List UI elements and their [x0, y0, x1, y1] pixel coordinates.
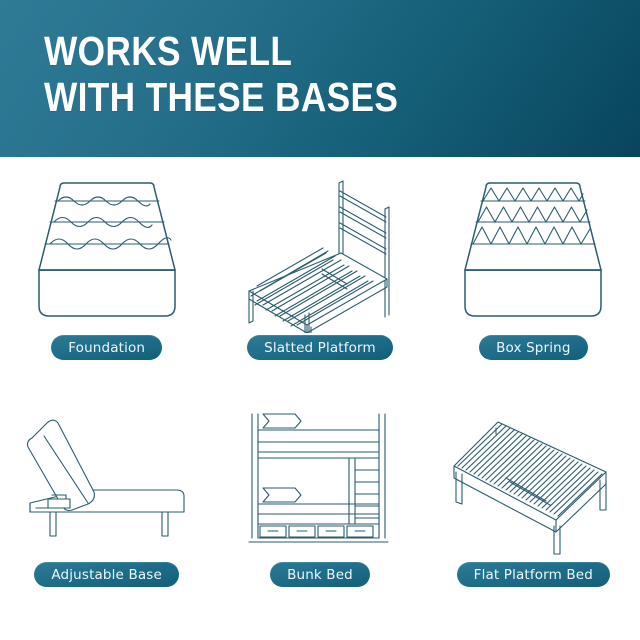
base-card-flat-platform-bed[interactable]: Flat Platform Bed — [427, 400, 640, 635]
base-label-foundation[interactable]: Foundation — [51, 335, 162, 360]
box-spring-icon — [440, 165, 626, 333]
base-label-box-spring[interactable]: Box Spring — [479, 335, 587, 360]
base-label-slatted-platform[interactable]: Slatted Platform — [247, 335, 393, 360]
base-label-flat-platform-bed[interactable]: Flat Platform Bed — [457, 562, 610, 587]
base-card-box-spring[interactable]: Box Spring — [427, 165, 640, 400]
base-card-slatted-platform[interactable]: Slatted Platform — [213, 165, 426, 400]
base-card-bunk-bed[interactable]: Bunk Bed — [213, 400, 426, 635]
infographic-page: WORKS WELL WITH THESE BASES Foundation — [0, 0, 640, 640]
flat-platform-bed-icon — [440, 400, 626, 560]
bunk-bed-icon — [227, 400, 413, 560]
base-card-foundation[interactable]: Foundation — [0, 165, 213, 400]
base-card-adjustable-base[interactable]: Adjustable Base — [0, 400, 213, 635]
base-label-bunk-bed[interactable]: Bunk Bed — [270, 562, 370, 587]
header-banner: WORKS WELL WITH THESE BASES — [0, 0, 640, 157]
page-title-line-1: WORKS WELL — [44, 28, 292, 74]
foundation-mattress-icon — [14, 165, 200, 333]
page-title-line-2: WITH THESE BASES — [44, 74, 398, 120]
page-title: WORKS WELL WITH THESE BASES — [44, 28, 398, 120]
adjustable-base-icon — [14, 400, 200, 560]
base-label-adjustable-base[interactable]: Adjustable Base — [34, 562, 179, 587]
slatted-platform-bed-icon — [227, 165, 413, 333]
bases-grid: Foundation — [0, 165, 640, 635]
